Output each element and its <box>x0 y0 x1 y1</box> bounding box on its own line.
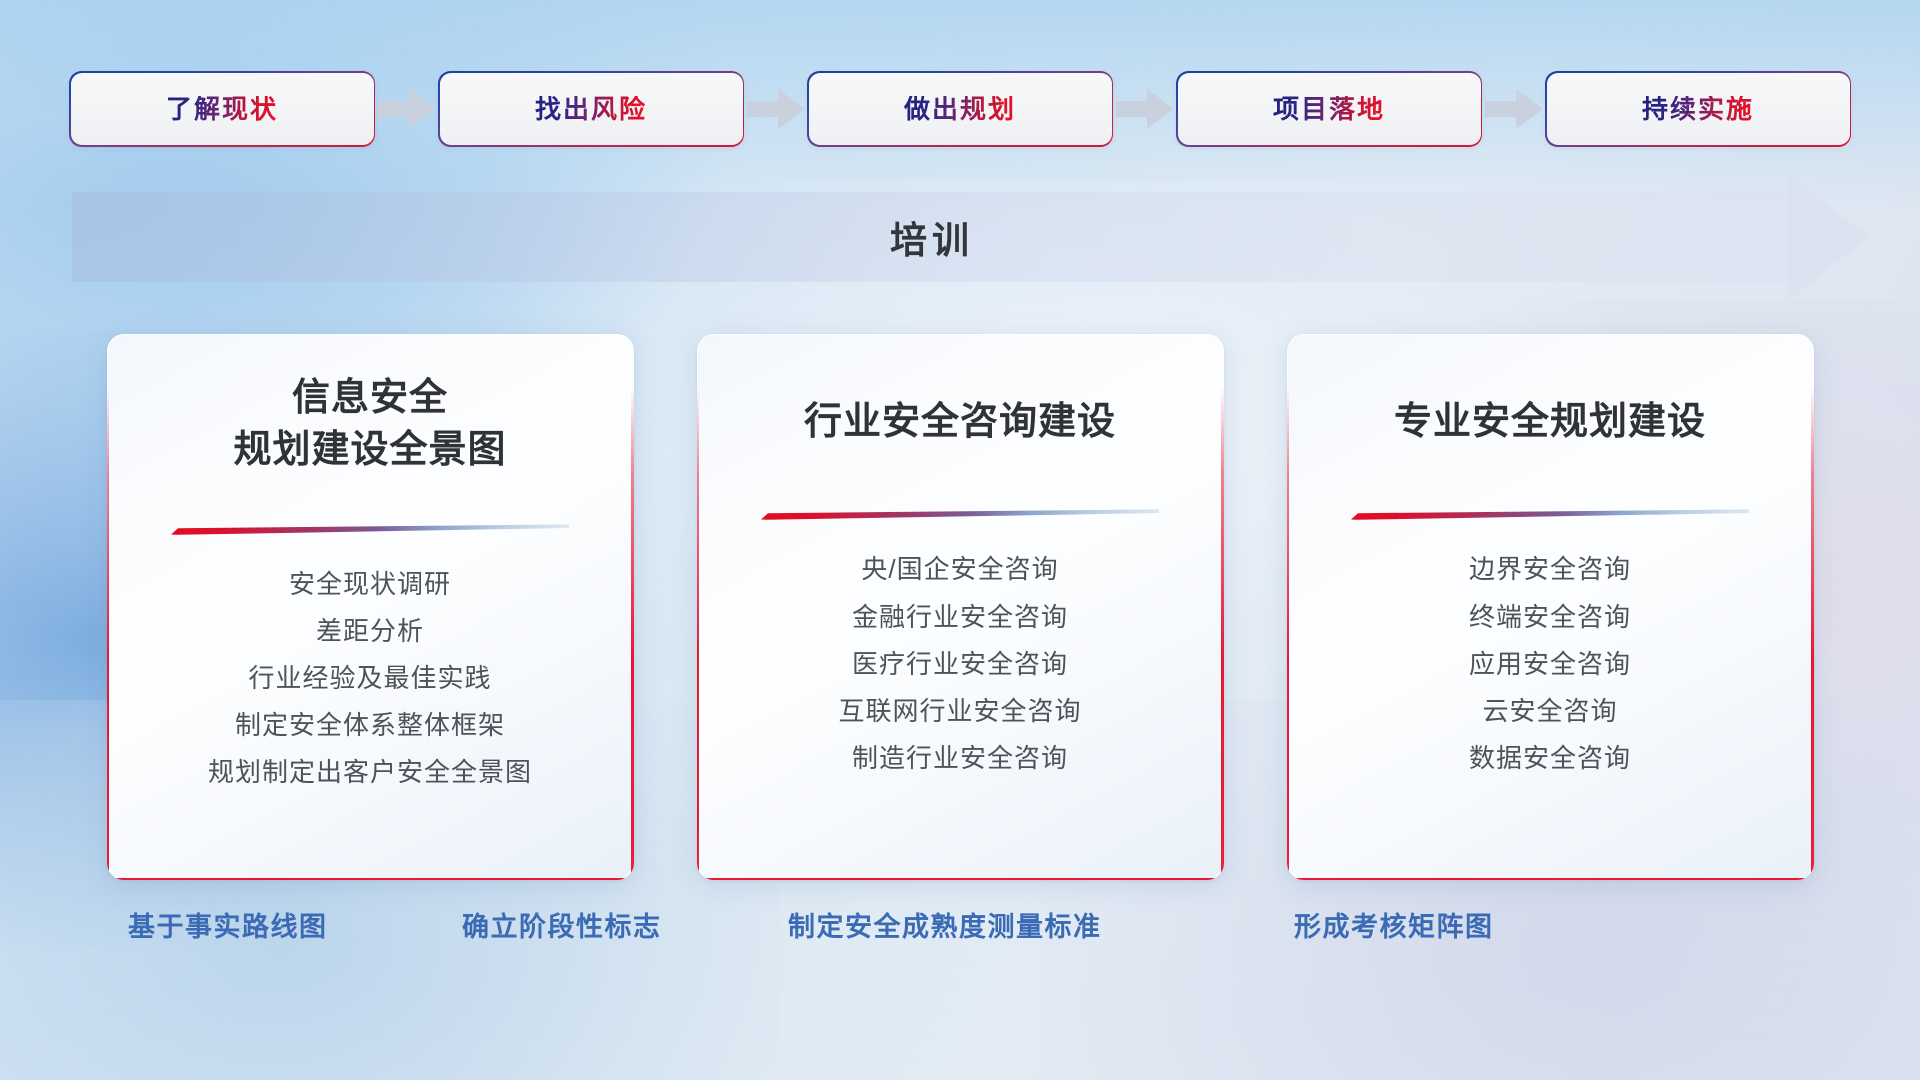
list-item: 应用安全咨询 <box>1469 643 1631 685</box>
right-arrow-icon <box>378 89 436 129</box>
footer-label-row: 基于事实路线图 确立阶段性标志 制定安全成熟度测量标准 形成考核矩阵图 <box>0 905 1920 965</box>
process-step-label: 了解现状 <box>166 96 278 122</box>
list-item: 数据安全咨询 <box>1469 737 1631 779</box>
card-left-accent <box>1287 386 1289 880</box>
training-banner-title: 培训 <box>72 192 1792 282</box>
process-step-2[interactable]: 找出风险 <box>440 73 743 145</box>
list-item: 制定安全体系整体框架 <box>235 704 505 746</box>
card-right-accent <box>1221 386 1223 880</box>
gradient-divider-icon <box>761 509 1159 520</box>
list-item: 互联网行业安全咨询 <box>838 690 1081 732</box>
list-item: 央/国企安全咨询 <box>861 548 1058 590</box>
card-information-security-blueprint[interactable]: 信息安全 规划建设全景图 安全现状调 <box>107 334 634 880</box>
training-banner-arrow <box>1788 173 1868 301</box>
process-arrow-1 <box>374 88 440 130</box>
list-item: 医疗行业安全咨询 <box>852 643 1068 685</box>
card-divider <box>171 524 569 535</box>
process-step-5[interactable]: 持续实施 <box>1547 73 1850 145</box>
process-step-label: 做出规划 <box>904 96 1016 122</box>
list-item: 安全现状调研 <box>289 563 451 605</box>
card-industry-security-consulting[interactable]: 行业安全咨询建设 央/国企安全咨询 <box>697 334 1224 880</box>
process-step-4[interactable]: 项目落地 <box>1178 73 1481 145</box>
process-step-row: 了解现状 找出风险 做出规划 项目落地 持续实施 <box>0 68 1920 150</box>
card-item-list: 央/国企安全咨询 金融行业安全咨询 医疗行业安全咨询 互联网行业安全咨询 制造行… <box>697 520 1224 819</box>
footer-label-milestones: 确立阶段性标志 <box>462 905 662 944</box>
banner-arrowhead-icon <box>1788 173 1868 301</box>
card-bottom-accent <box>107 878 634 880</box>
right-arrow-icon <box>1116 89 1174 129</box>
card-left-accent <box>107 386 109 880</box>
list-item: 终端安全咨询 <box>1469 596 1631 638</box>
card-professional-security-planning[interactable]: 专业安全规划建设 边界安全咨询 <box>1287 334 1814 880</box>
footer-label-matrix: 形成考核矩阵图 <box>1294 905 1494 944</box>
process-step-3[interactable]: 做出规划 <box>809 73 1112 145</box>
right-arrow-icon <box>747 89 805 129</box>
process-step-label: 项目落地 <box>1273 96 1385 122</box>
card-divider <box>1351 509 1749 520</box>
process-arrow-4 <box>1481 88 1547 130</box>
card-title: 行业安全咨询建设 <box>776 396 1144 448</box>
card-right-accent <box>631 386 633 880</box>
list-item: 边界安全咨询 <box>1469 548 1631 590</box>
card-left-accent <box>697 386 699 880</box>
process-arrow-3 <box>1112 88 1178 130</box>
list-item: 行业经验及最佳实践 <box>248 657 491 699</box>
gradient-divider-icon <box>1351 509 1749 520</box>
card-row: 信息安全 规划建设全景图 安全现状调 <box>0 334 1920 880</box>
process-step-1[interactable]: 了解现状 <box>71 73 374 145</box>
list-item: 差距分析 <box>316 610 424 652</box>
footer-label-roadmap: 基于事实路线图 <box>128 905 328 944</box>
process-arrow-2 <box>743 88 809 130</box>
right-arrow-icon <box>1485 89 1543 129</box>
process-step-label: 持续实施 <box>1642 96 1754 122</box>
gradient-divider-icon <box>171 524 569 535</box>
card-title: 专业安全规划建设 <box>1366 396 1734 448</box>
training-banner: 培训 <box>72 192 1864 282</box>
card-right-accent <box>1811 386 1813 880</box>
card-title: 信息安全 规划建设全景图 <box>205 372 534 477</box>
card-bottom-accent <box>697 878 1224 880</box>
card-divider <box>761 509 1159 520</box>
process-step-label: 找出风险 <box>535 96 647 122</box>
list-item: 规划制定出客户安全全景图 <box>208 751 532 793</box>
list-item: 云安全咨询 <box>1482 690 1617 732</box>
card-item-list: 安全现状调研 差距分析 行业经验及最佳实践 制定安全体系整体框架 规划制定出客户… <box>107 535 634 834</box>
card-item-list: 边界安全咨询 终端安全咨询 应用安全咨询 云安全咨询 数据安全咨询 <box>1287 520 1814 819</box>
card-bottom-accent <box>1287 878 1814 880</box>
list-item: 制造行业安全咨询 <box>852 737 1068 779</box>
list-item: 金融行业安全咨询 <box>852 596 1068 638</box>
footer-label-maturity: 制定安全成熟度测量标准 <box>788 905 1102 944</box>
